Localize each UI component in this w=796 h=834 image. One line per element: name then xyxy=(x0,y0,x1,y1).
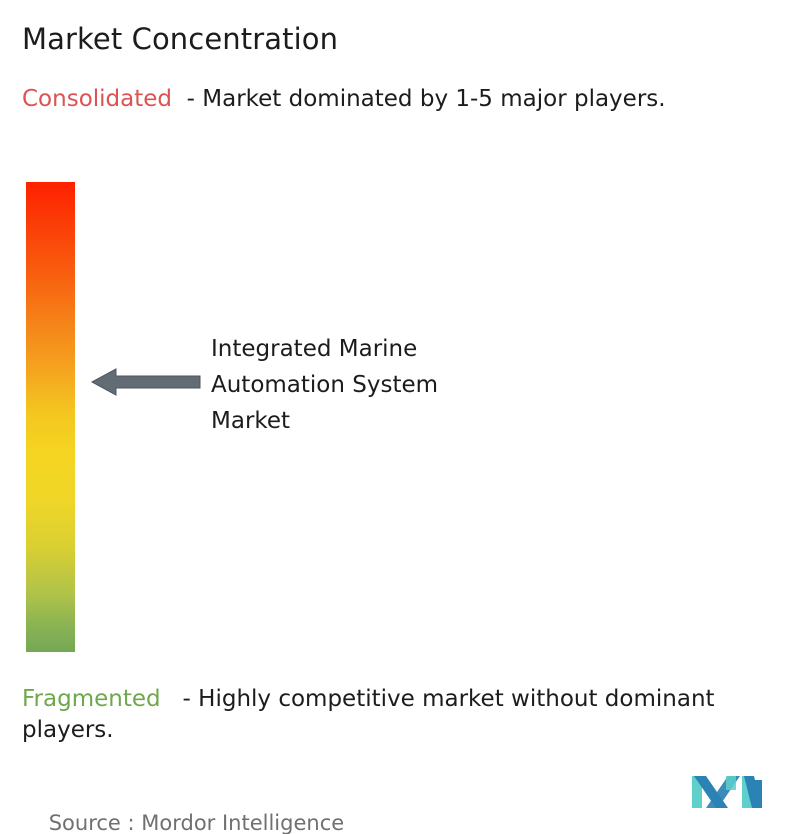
brand-logo xyxy=(692,770,762,814)
callout-line-1: Integrated Marine xyxy=(211,336,417,362)
legend-separator-consolidated: - xyxy=(172,86,202,112)
source-value: Mordor Intelligence xyxy=(141,811,344,834)
callout-label: Integrated Marine Automation System Mark… xyxy=(211,331,541,439)
legend-keyword-consolidated: Consolidated xyxy=(22,86,172,112)
concentration-gradient-bar xyxy=(26,182,75,652)
mordor-intelligence-logo-icon xyxy=(692,770,762,814)
arrow-left-icon xyxy=(90,366,202,398)
market-concentration-infographic: Market Concentration Consolidated - Mark… xyxy=(0,0,796,834)
source-attribution: Source : Mordor Intelligence xyxy=(22,783,344,834)
callout-line-2: Automation System xyxy=(211,372,438,398)
page-title: Market Concentration xyxy=(22,20,338,58)
legend-fragmented: Fragmented - Highly competitive market w… xyxy=(22,684,782,746)
legend-description-consolidated: Market dominated by 1-5 major players. xyxy=(202,86,665,112)
legend-keyword-fragmented: Fragmented xyxy=(22,686,161,712)
legend-separator-fragmented: - xyxy=(161,686,199,712)
market-position-arrow xyxy=(90,366,202,398)
callout-line-3: Market xyxy=(211,408,290,434)
legend-consolidated: Consolidated - Market dominated by 1-5 m… xyxy=(22,84,767,115)
source-label: Source : xyxy=(49,811,142,834)
